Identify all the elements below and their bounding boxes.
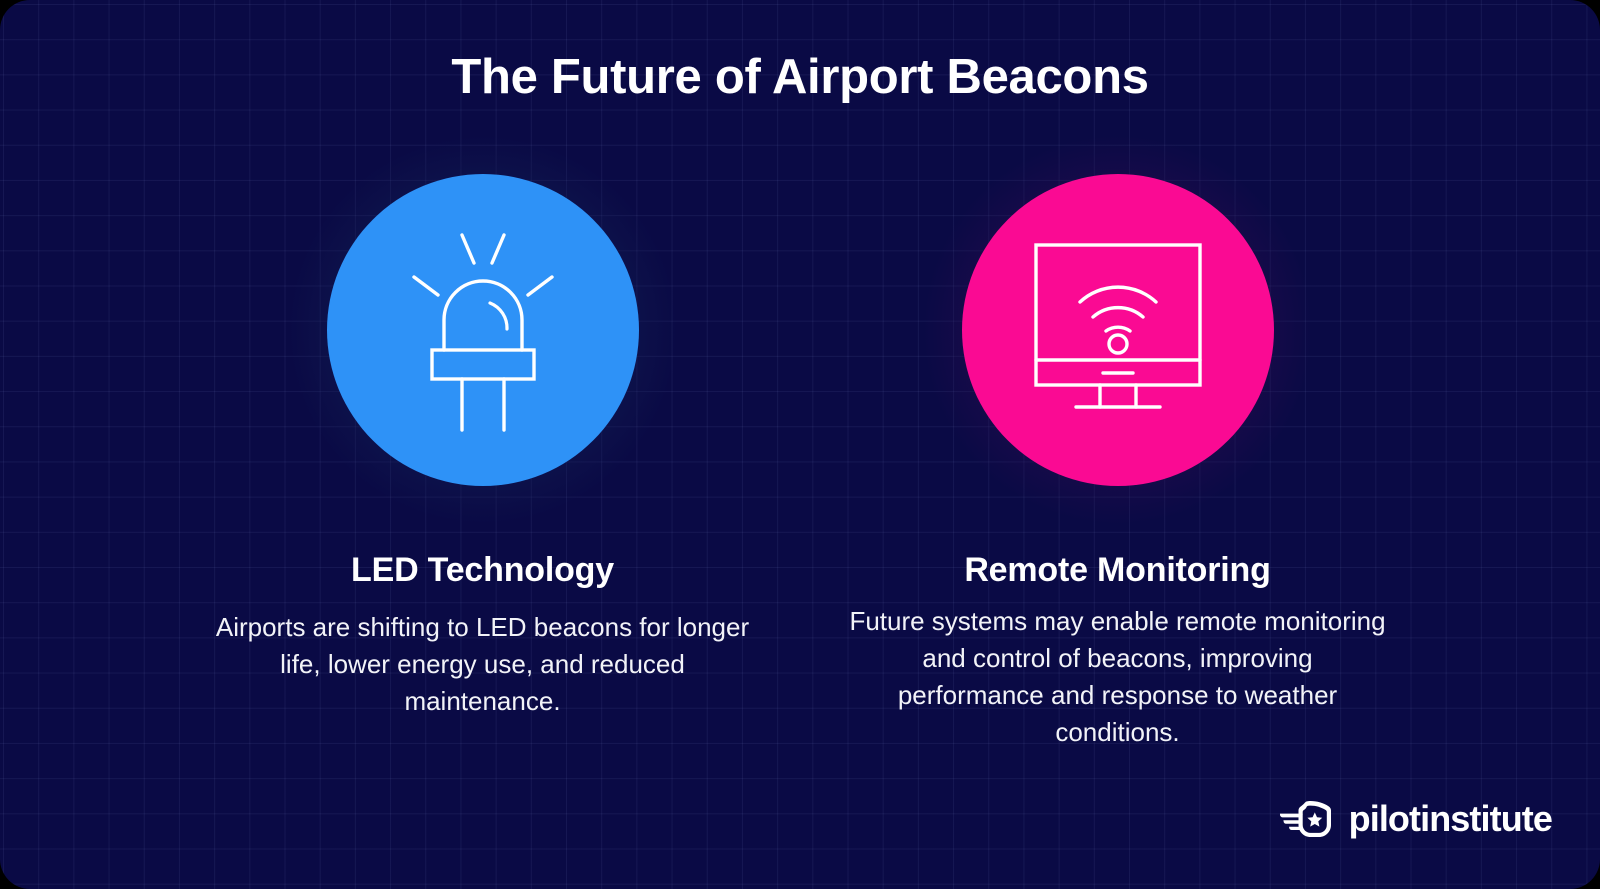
cards-row: LED Technology Airports are shifting to … [0, 130, 1600, 751]
brand-logo-text: pilotinstitute [1349, 801, 1552, 837]
card-body-led: Airports are shifting to LED beacons for… [203, 609, 763, 720]
card-body-monitoring: Future systems may enable remote monitor… [848, 603, 1388, 751]
card-heading-monitoring: Remote Monitoring [964, 552, 1270, 589]
icon-disc-blue [327, 174, 639, 486]
card-remote-monitoring: Remote Monitoring Future systems may ena… [800, 130, 1435, 751]
infographic-canvas: The Future of Airport Beacons [0, 0, 1600, 889]
led-bulb-icon [383, 225, 583, 435]
page-title: The Future of Airport Beacons [0, 51, 1600, 105]
card-led-technology: LED Technology Airports are shifting to … [165, 130, 800, 720]
icon-disc-pink [962, 174, 1274, 486]
icon-badge-monitor [918, 130, 1318, 530]
winged-shield-star-icon [1280, 799, 1338, 839]
card-heading-led: LED Technology [351, 552, 614, 589]
brand-logo[interactable]: pilotinstitute [1280, 799, 1552, 839]
icon-badge-led [283, 130, 683, 530]
monitor-wifi-icon [1018, 240, 1218, 420]
